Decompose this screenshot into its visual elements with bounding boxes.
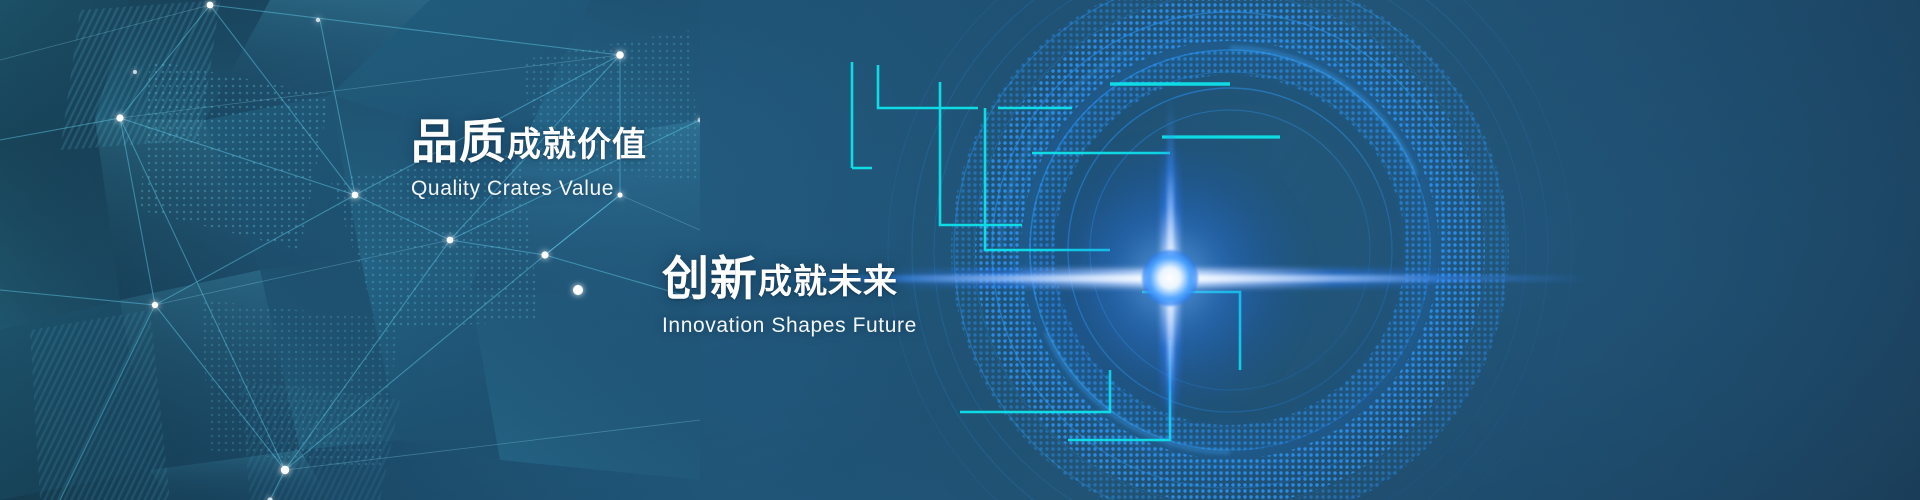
- headline-innovation-light: 成就未来: [758, 263, 898, 301]
- hud-bracket-lines: [0, 0, 1920, 500]
- slogan-block-quality: 品质成就价值 Quality Crates Value: [411, 118, 647, 201]
- slogan-block-innovation: 创新成就未来 Innovation Shapes Future: [662, 255, 917, 338]
- headline-quality-light: 成就价值: [507, 126, 647, 164]
- hud-svg: [810, 40, 1430, 460]
- headline-quality-strong: 品质: [411, 115, 507, 168]
- headline-quality: 品质成就价值: [411, 118, 647, 165]
- subline-innovation: Innovation Shapes Future: [662, 314, 917, 338]
- headline-innovation-strong: 创新: [662, 252, 758, 305]
- hero-banner: 品质成就价值 Quality Crates Value 创新成就未来 Innov…: [0, 0, 1920, 500]
- headline-innovation: 创新成就未来: [662, 255, 917, 302]
- subline-quality: Quality Crates Value: [411, 177, 647, 201]
